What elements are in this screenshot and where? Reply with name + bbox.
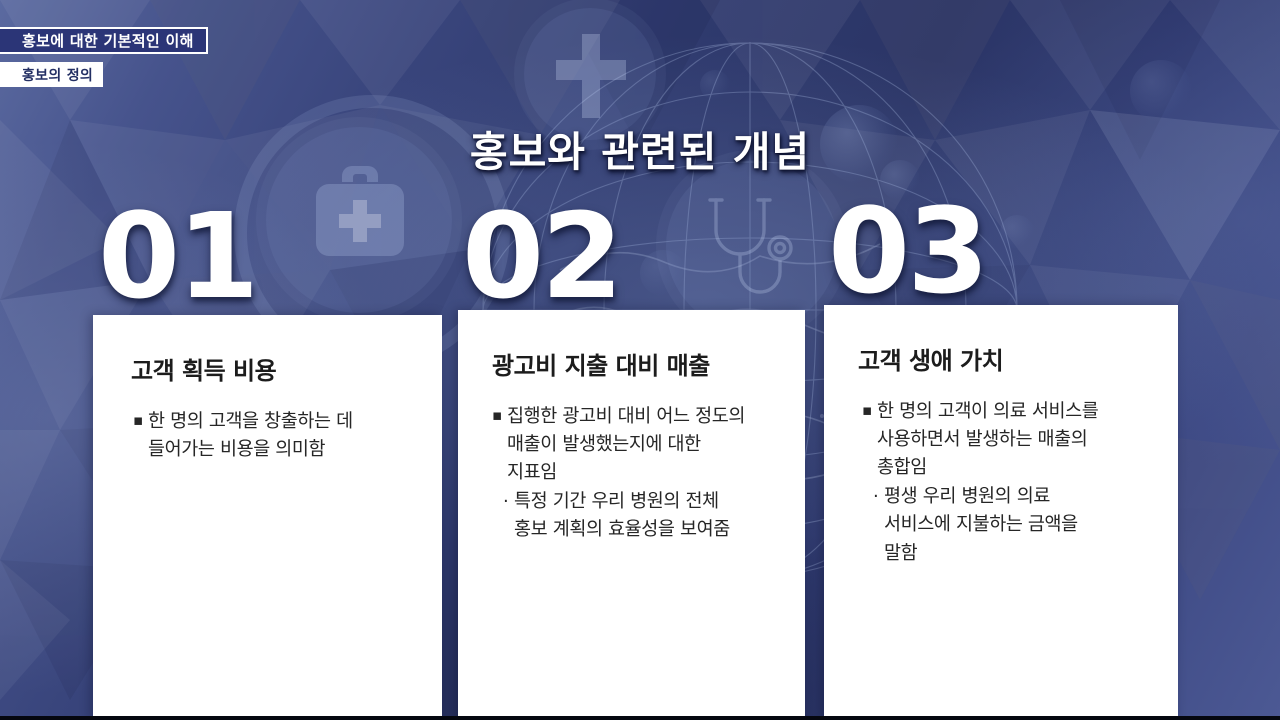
breadcrumb-secondary-label: 홍보의 정의 <box>22 65 93 85</box>
concept-card-1: 고객 획득 비용 ▪ 한 명의 고객을 창출하는 데 들어가는 비용을 의미함 <box>93 315 442 720</box>
card-title: 고객 획득 비용 <box>113 315 422 386</box>
list-item: ▪ 집행한 광고비 대비 어느 정도의 매출이 발생했는지에 대한 지표임 <box>492 403 785 487</box>
presentation-slide: 홍보에 대한 기본적인 이해 홍보의 정의 홍보와 관련된 개념 01 02 0… <box>0 0 1280 720</box>
list-item: · 평생 우리 병원의 의료 서비스에 지불하는 금액을 말함 <box>862 483 1158 567</box>
page-title: 홍보와 관련된 개념 <box>0 118 1280 178</box>
bottom-letterbox-bar <box>0 716 1280 720</box>
card-number-03: 03 <box>828 192 986 310</box>
breadcrumb-primary-label: 홍보에 대한 기본적인 이해 <box>22 30 194 51</box>
card-title: 광고비 지출 대비 매출 <box>478 310 785 381</box>
card-bullet-list: ▪ 한 명의 고객이 의료 서비스를 사용하면서 발생하는 매출의 총합임 · … <box>844 376 1158 568</box>
card-bullet-list: ▪ 집행한 광고비 대비 어느 정도의 매출이 발생했는지에 대한 지표임 · … <box>478 381 785 545</box>
square-bullet-icon: ▪ <box>492 403 507 487</box>
card-bullet-list: ▪ 한 명의 고객을 창출하는 데 들어가는 비용을 의미함 <box>113 386 422 464</box>
concept-card-2: 광고비 지출 대비 매출 ▪ 집행한 광고비 대비 어느 정도의 매출이 발생했… <box>458 310 805 720</box>
square-bullet-icon: ▪ <box>133 408 148 464</box>
breadcrumb-secondary-banner: 홍보의 정의 <box>0 62 103 87</box>
dot-bullet-icon: · <box>873 483 884 567</box>
list-item-text: 집행한 광고비 대비 어느 정도의 매출이 발생했는지에 대한 지표임 <box>507 403 785 487</box>
square-bullet-icon: ▪ <box>862 398 877 482</box>
concept-card-3: 고객 생애 가치 ▪ 한 명의 고객이 의료 서비스를 사용하면서 발생하는 매… <box>824 305 1178 720</box>
list-item-text: 특정 기간 우리 병원의 전체 홍보 계획의 효율성을 보여줌 <box>514 488 785 544</box>
stethoscope-icon <box>700 190 808 306</box>
list-item-text: 평생 우리 병원의 의료 서비스에 지불하는 금액을 말함 <box>884 483 1158 567</box>
list-item: ▪ 한 명의 고객이 의료 서비스를 사용하면서 발생하는 매출의 총합임 <box>862 398 1158 482</box>
card-title: 고객 생애 가치 <box>844 305 1158 376</box>
list-item: · 특정 기간 우리 병원의 전체 홍보 계획의 효율성을 보여줌 <box>492 488 785 544</box>
card-number-02: 02 <box>462 197 620 315</box>
breadcrumb-primary-banner: 홍보에 대한 기본적인 이해 <box>0 27 208 54</box>
card-number-01: 01 <box>98 197 256 315</box>
dot-bullet-icon: · <box>503 488 514 544</box>
list-item-text: 한 명의 고객을 창출하는 데 들어가는 비용을 의미함 <box>148 408 422 464</box>
medical-cross-icon <box>556 34 626 118</box>
list-item-text: 한 명의 고객이 의료 서비스를 사용하면서 발생하는 매출의 총합임 <box>877 398 1158 482</box>
list-item: ▪ 한 명의 고객을 창출하는 데 들어가는 비용을 의미함 <box>133 408 422 464</box>
